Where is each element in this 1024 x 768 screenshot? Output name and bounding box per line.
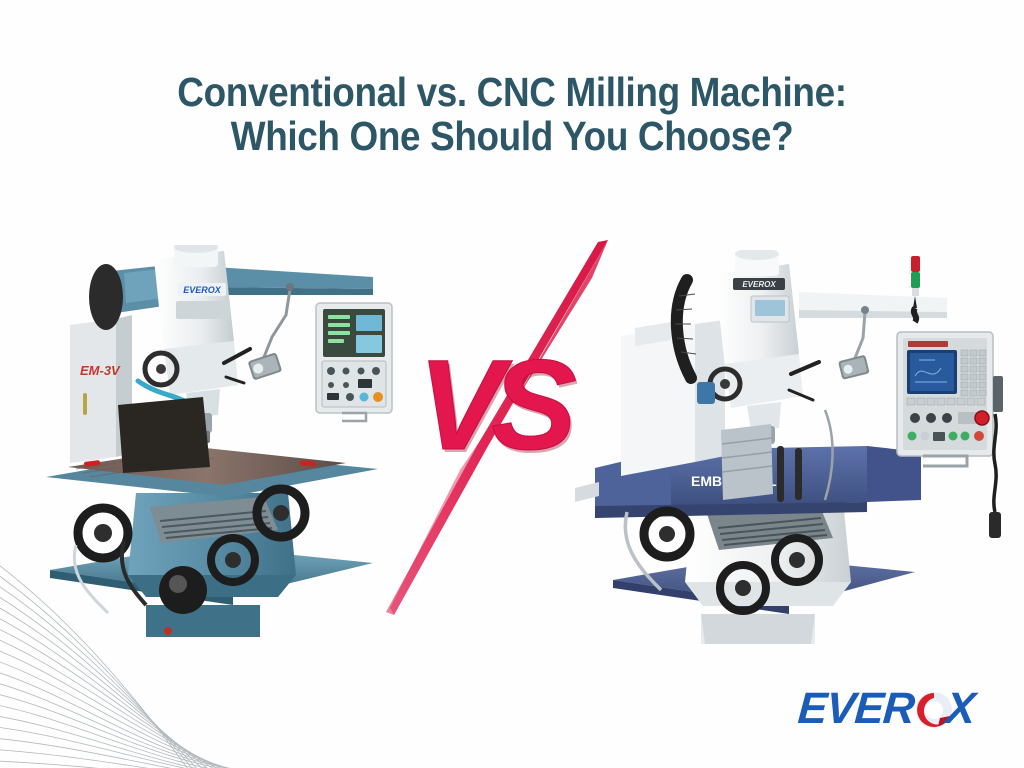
page-title-line-1: Conventional vs. CNC Milling Machine:	[51, 70, 973, 114]
page-title: Conventional vs. CNC Milling Machine: Wh…	[0, 70, 1024, 158]
banner-canvas: Conventional vs. CNC Milling Machine: Wh…	[0, 0, 1024, 768]
svg-text:EVEROX: EVEROX	[183, 285, 222, 295]
svg-text:EVEROX: EVEROX	[742, 280, 776, 289]
everox-logo: EVER X	[798, 682, 998, 738]
versus-label: VS	[418, 342, 565, 470]
conventional-milling-machine-image: EVEROX	[28, 245, 398, 660]
logo-text-x: X	[944, 686, 977, 732]
page-title-line-2: Which One Should You Choose?	[51, 114, 973, 158]
versus-graphic: VS	[360, 230, 650, 630]
left-machine-model-label: EM-3V	[80, 363, 121, 378]
logo-text-ever: EVER	[796, 686, 915, 732]
